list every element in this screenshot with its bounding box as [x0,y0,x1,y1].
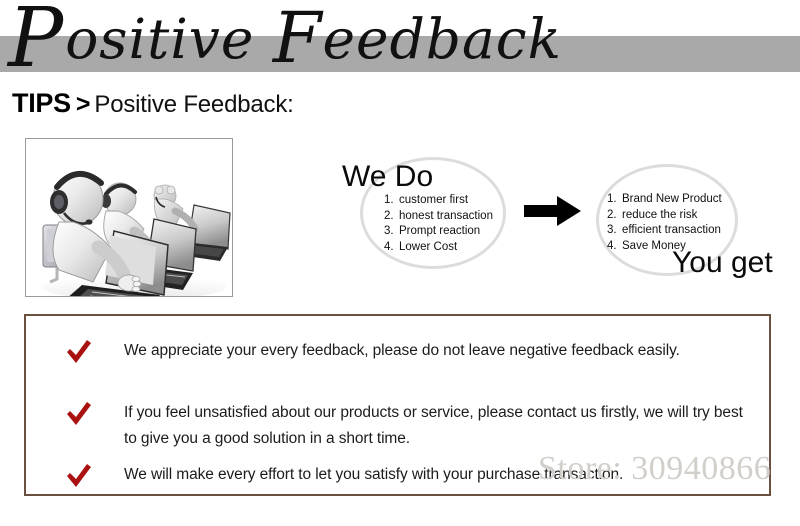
we-do-title: We Do [342,160,433,194]
list-item: 3.Prompt reaction [384,224,493,240]
breadcrumb-current-page: Positive Feedback: [94,91,293,118]
you-get-title: You get [672,246,773,280]
list-item-number: 1. [384,193,399,209]
list-item-label: honest transaction [399,210,493,222]
breadcrumb: TIPS>Positive Feedback: [12,86,294,120]
store-watermark: Store: 30940866 [538,450,771,488]
list-item: 2.reduce the risk [607,208,722,224]
note-text: If you feel unsatisfied about our produc… [124,400,746,452]
list-item-number: 2. [607,208,622,224]
you-get-list: 1.Brand New Product 2.reduce the risk 3.… [607,192,722,254]
list-item-label: efficient transaction [622,224,721,236]
list-item: 3.efficient transaction [607,223,722,239]
header-banner-title: Positive Feedback [8,2,428,76]
note-text: We appreciate your every feedback, pleas… [124,338,746,364]
list-item-label: Brand New Product [622,193,722,205]
list-item-number: 2. [384,209,399,225]
list-item: 2.honest transaction [384,209,493,225]
banner-script-capital-f: F [273,0,323,79]
list-item-number: 4. [384,240,399,256]
checkmark-icon [66,464,92,488]
arrow-right-icon [524,196,582,226]
list-item-number: 3. [384,224,399,240]
chevron-right-icon: > [71,90,95,118]
we-do-list: 1.customer first 2.honest transaction 3.… [384,193,493,255]
breadcrumb-tips-label: TIPS [12,88,71,118]
checkmark-icon [66,402,92,426]
list-item-label: Lower Cost [399,241,457,253]
list-item: 1.customer first [384,193,493,209]
checkmark-icon [66,340,92,364]
banner-script-eedback: eedback [323,7,562,71]
arrow-right-icon-graphic [524,196,582,226]
note-item: We appreciate your every feedback, pleas… [66,338,746,364]
list-item-label: reduce the risk [622,209,697,221]
banner-script-capital-p: P [8,0,65,86]
list-item-label: customer first [399,194,468,206]
list-item-number: 1. [607,192,622,208]
list-item-number: 4. [607,239,622,255]
note-item: If you feel unsatisfied about our produc… [66,400,746,452]
list-item-label: Prompt reaction [399,225,480,237]
list-item-number: 3. [607,223,622,239]
call-center-photo-graphic [26,139,232,296]
list-item: 4.Lower Cost [384,240,493,256]
banner-script-ositive: ositive [65,7,273,71]
call-center-photo [25,138,233,297]
list-item: 1.Brand New Product [607,192,722,208]
